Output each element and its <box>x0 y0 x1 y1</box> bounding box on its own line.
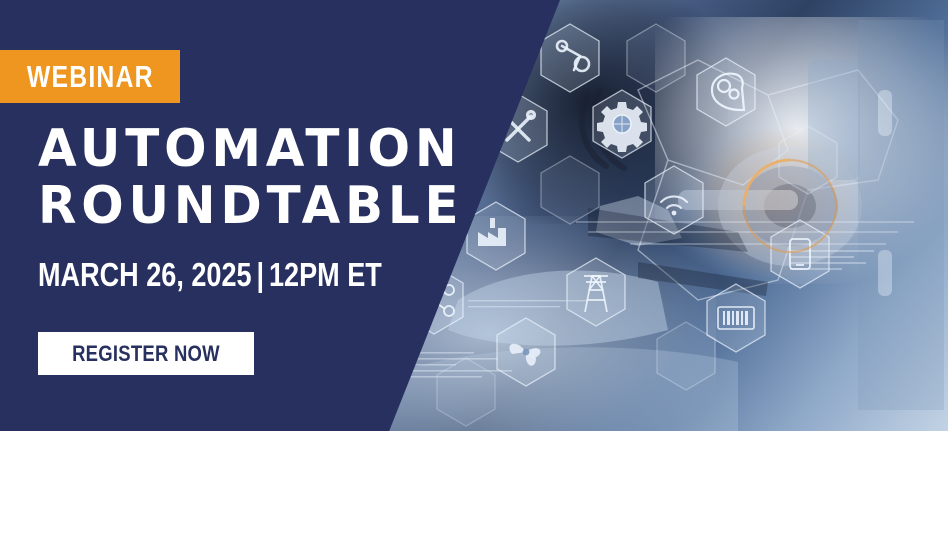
event-time: 12PM ET <box>269 256 382 293</box>
hex-wifi-icon <box>645 166 703 234</box>
hex-power-tower-icon <box>567 258 625 326</box>
webinar-badge-label: WEBINAR <box>27 59 154 95</box>
footer-section: PRODUCED BY: IN PRINT • IN PERSON • ONLI… <box>0 431 948 533</box>
title-line-1: AUTOMATION <box>38 124 441 175</box>
title-line-2: ROUNDTABLE <box>38 181 441 232</box>
webinar-badge: WEBINAR <box>0 50 180 103</box>
hex-decorative <box>627 24 685 92</box>
hex-robot-arm-icon <box>541 24 599 92</box>
register-now-label: REGISTER NOW <box>72 341 220 367</box>
hex-decorative <box>657 322 715 390</box>
hero-section: 0101 1010 <box>0 0 948 431</box>
page-title: AUTOMATION ROUNDTABLE <box>38 124 458 232</box>
hex-decorative <box>541 156 599 224</box>
hero-copy: WEBINAR AUTOMATION ROUNDTABLE MARCH 26, … <box>0 0 470 431</box>
event-datetime: MARCH 26, 2025|12PM ET <box>38 256 382 294</box>
datetime-separator: | <box>252 256 269 294</box>
register-now-button[interactable]: REGISTER NOW <box>38 332 254 375</box>
hex-tablet-icon <box>771 220 829 288</box>
event-date: MARCH 26, 2025 <box>38 256 252 293</box>
webinar-promo-banner: 0101 1010 <box>0 0 948 533</box>
